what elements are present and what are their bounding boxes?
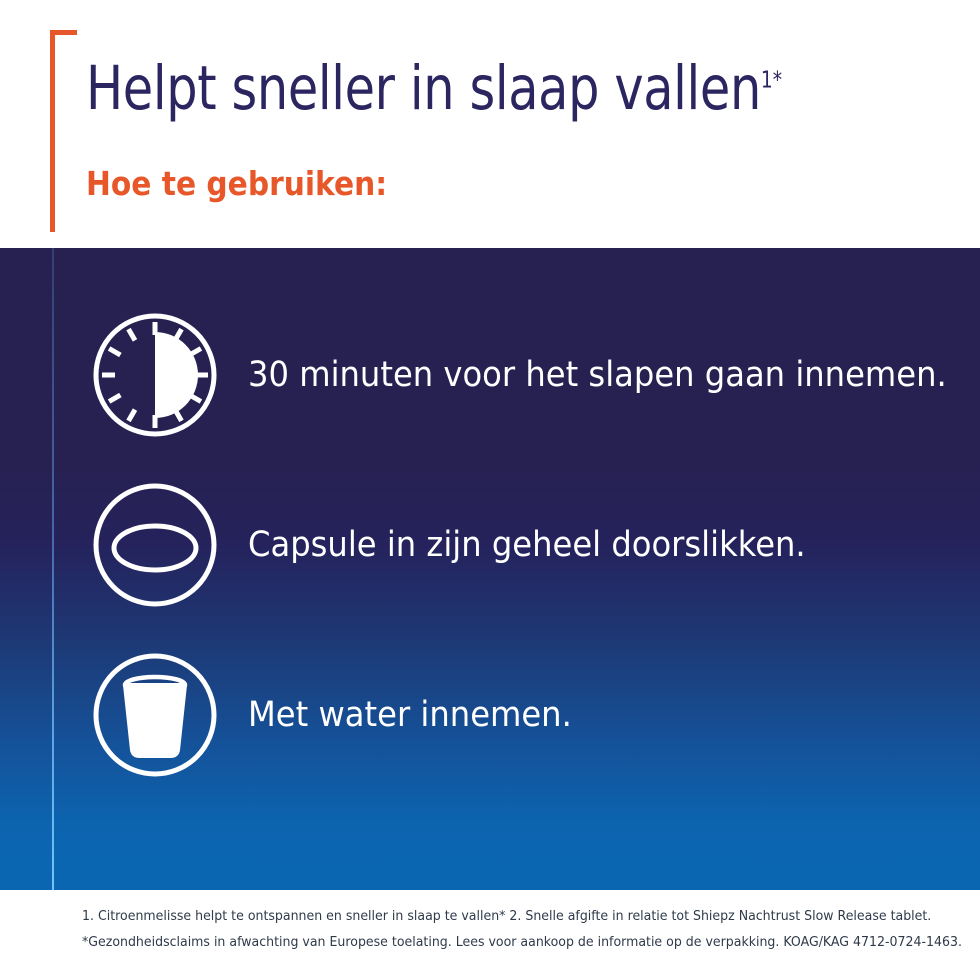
steps-list: 30 minuten voor het slapen gaan innemen.… [0, 248, 980, 890]
footnote-line-1: 1. Citroenmelisse helpt te ontspannen en… [82, 908, 931, 924]
page-title: Helpt sneller in slaap vallen1* [86, 58, 782, 119]
water-glass-icon [90, 650, 220, 780]
step-item-water: Met water innemen. [90, 650, 950, 780]
subheading: Hoe te gebruiken: [86, 164, 387, 203]
instructions-section: 30 minuten voor het slapen gaan innemen.… [0, 248, 980, 890]
step-label: 30 minuten voor het slapen gaan innemen. [248, 355, 947, 395]
promo-poster: Helpt sneller in slaap vallen1* Hoe te g… [0, 0, 980, 980]
capsule-tablet-icon [90, 480, 220, 610]
step-label: Capsule in zijn geheel doorslikken. [248, 525, 806, 565]
step-label: Met water innemen. [248, 695, 572, 735]
timer-clock-icon [90, 310, 220, 440]
step-item-swallow: Capsule in zijn geheel doorslikken. [90, 480, 950, 610]
footnote-line-2: *Gezondheidsclaims in afwachting van Eur… [82, 934, 962, 950]
header-section: Helpt sneller in slaap vallen1* Hoe te g… [0, 0, 980, 248]
headline-text: Helpt sneller in slaap vallen [86, 53, 761, 124]
step-item-timing: 30 minuten voor het slapen gaan innemen. [90, 310, 950, 440]
headline-superscript: 1* [761, 68, 782, 94]
orange-bracket-horizontal-icon [50, 30, 77, 35]
footer-section: 1. Citroenmelisse helpt te ontspannen en… [0, 890, 980, 980]
orange-bracket-vertical-icon [50, 30, 55, 232]
